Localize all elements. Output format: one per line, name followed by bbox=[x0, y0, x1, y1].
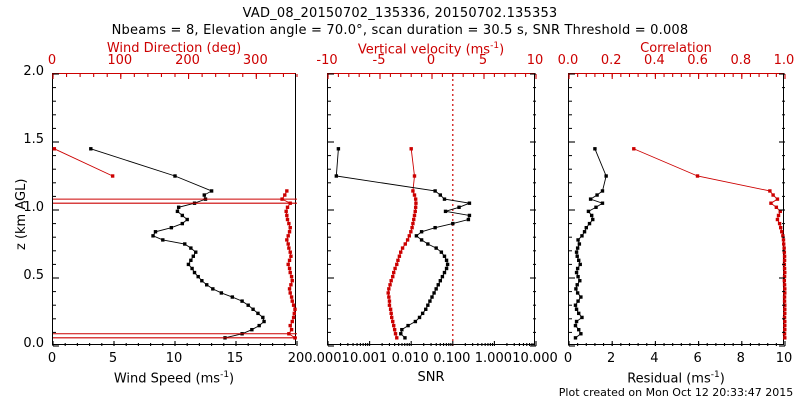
data-point bbox=[577, 259, 580, 262]
x-tick-label: 10 bbox=[776, 351, 793, 366]
data-point bbox=[591, 218, 594, 221]
series-line bbox=[91, 149, 264, 338]
data-point bbox=[389, 308, 392, 311]
data-point bbox=[291, 320, 294, 323]
data-point bbox=[231, 295, 234, 298]
data-point bbox=[391, 275, 394, 278]
data-point bbox=[783, 283, 786, 286]
series-residual bbox=[574, 147, 608, 339]
data-point bbox=[579, 263, 582, 266]
data-point bbox=[577, 312, 580, 315]
data-point bbox=[413, 193, 416, 196]
data-point bbox=[432, 291, 435, 294]
data-point bbox=[574, 304, 577, 307]
data-point bbox=[579, 332, 582, 335]
data-point bbox=[579, 295, 582, 298]
data-point bbox=[434, 246, 437, 249]
panel-wind-canvas bbox=[53, 74, 297, 346]
panel-wind-bottom-axis-title: Wind Speed (ms-1) bbox=[114, 370, 234, 386]
data-point bbox=[576, 275, 579, 278]
data-point bbox=[247, 304, 250, 307]
data-point bbox=[578, 242, 581, 245]
data-point bbox=[251, 308, 254, 311]
data-point bbox=[283, 193, 286, 196]
series-vertical-velocity bbox=[335, 147, 472, 339]
x-tick-label: 0.001 bbox=[350, 351, 387, 366]
data-point bbox=[601, 202, 604, 205]
data-point bbox=[415, 234, 418, 237]
figure-title-line2: Nbeams = 8, Elevation angle = 70.0°, sca… bbox=[112, 23, 689, 38]
data-point bbox=[189, 246, 192, 249]
data-point bbox=[194, 250, 197, 253]
x-tick-label: 2 bbox=[607, 351, 615, 366]
x-top-tick-label: 0.8 bbox=[730, 53, 751, 68]
data-point bbox=[390, 316, 393, 319]
series-line bbox=[388, 149, 416, 338]
data-point bbox=[783, 299, 786, 302]
data-point bbox=[288, 267, 291, 270]
data-point bbox=[589, 197, 592, 200]
data-point bbox=[290, 275, 293, 278]
data-point bbox=[261, 316, 264, 319]
y-tick-label: 0.5 bbox=[23, 268, 44, 283]
panel-residual-bottom-axis-title: Residual (ms-1) bbox=[627, 370, 725, 386]
data-point bbox=[186, 218, 189, 221]
data-point bbox=[782, 238, 785, 241]
data-point bbox=[395, 263, 398, 266]
y-tick-label: 0.0 bbox=[23, 336, 44, 351]
panel-wind bbox=[52, 73, 296, 345]
data-point bbox=[220, 291, 223, 294]
data-point bbox=[782, 246, 785, 249]
data-point bbox=[783, 312, 786, 315]
figure-title-line1: VAD_08_20150702_135336, 20150702.135353 bbox=[243, 6, 558, 21]
series-wind-speed bbox=[89, 147, 266, 339]
data-point bbox=[211, 287, 214, 290]
data-point bbox=[576, 255, 579, 258]
data-point bbox=[190, 267, 193, 270]
data-point bbox=[783, 259, 786, 262]
data-point bbox=[210, 189, 213, 192]
data-point bbox=[290, 328, 293, 331]
x-top-tick-label: 0 bbox=[48, 53, 56, 68]
data-point bbox=[779, 226, 782, 229]
data-point bbox=[292, 316, 295, 319]
data-point bbox=[410, 226, 413, 229]
data-point bbox=[783, 287, 786, 290]
x-top-tick-label: 10 bbox=[527, 53, 544, 68]
data-point bbox=[392, 271, 395, 274]
data-point bbox=[389, 312, 392, 315]
x-top-tick-label: 1.0 bbox=[774, 53, 795, 68]
data-point bbox=[443, 255, 446, 258]
data-point bbox=[285, 214, 288, 217]
data-point bbox=[414, 197, 417, 200]
data-point bbox=[604, 174, 607, 177]
data-point bbox=[783, 336, 786, 339]
data-point bbox=[289, 271, 292, 274]
panel-residual bbox=[568, 73, 784, 345]
data-point bbox=[395, 336, 398, 339]
data-point bbox=[287, 246, 290, 249]
x-top-tick-label: 300 bbox=[243, 53, 268, 68]
data-point bbox=[783, 267, 786, 270]
data-point bbox=[446, 263, 449, 266]
data-point bbox=[337, 147, 340, 150]
data-point bbox=[387, 287, 390, 290]
data-point bbox=[89, 147, 92, 150]
x-tick-label: 20 bbox=[288, 351, 305, 366]
data-point bbox=[286, 242, 289, 245]
data-point bbox=[151, 234, 154, 237]
data-point bbox=[289, 255, 292, 258]
data-point bbox=[393, 328, 396, 331]
data-point bbox=[193, 271, 196, 274]
data-point bbox=[783, 320, 786, 323]
data-point bbox=[189, 259, 192, 262]
data-point bbox=[203, 193, 206, 196]
x-top-tick-label: 0.2 bbox=[601, 53, 622, 68]
data-point bbox=[290, 295, 293, 298]
data-point bbox=[288, 287, 291, 290]
data-point bbox=[574, 336, 577, 339]
data-point bbox=[286, 234, 289, 237]
data-point bbox=[53, 147, 56, 150]
data-point bbox=[289, 283, 292, 286]
series-snr bbox=[387, 147, 418, 339]
data-point bbox=[205, 283, 208, 286]
data-point bbox=[161, 238, 164, 241]
data-point bbox=[576, 283, 579, 286]
data-point bbox=[389, 279, 392, 282]
data-point bbox=[176, 210, 179, 213]
data-point bbox=[575, 250, 578, 253]
data-point bbox=[445, 259, 448, 262]
data-point bbox=[400, 328, 403, 331]
data-point bbox=[293, 312, 296, 315]
data-point bbox=[181, 214, 184, 217]
series-correlation bbox=[632, 147, 786, 339]
data-point bbox=[181, 222, 184, 225]
data-point bbox=[418, 316, 421, 319]
data-point bbox=[578, 279, 581, 282]
data-point bbox=[393, 267, 396, 270]
plot-footnote: Plot created on Mon Oct 12 20:33:47 2015 bbox=[559, 386, 793, 399]
data-point bbox=[289, 226, 292, 229]
data-point bbox=[588, 222, 591, 225]
panel-snr bbox=[327, 73, 535, 345]
data-point bbox=[387, 295, 390, 298]
data-point bbox=[388, 299, 391, 302]
data-point bbox=[696, 174, 699, 177]
data-point bbox=[414, 320, 417, 323]
data-point bbox=[399, 332, 402, 335]
data-point bbox=[408, 234, 411, 237]
data-point bbox=[776, 197, 779, 200]
data-point bbox=[441, 275, 444, 278]
data-point bbox=[240, 299, 243, 302]
x-tick-label: 1.000 bbox=[475, 351, 512, 366]
data-point bbox=[192, 255, 195, 258]
data-point bbox=[577, 328, 580, 331]
data-point bbox=[414, 210, 417, 213]
data-point bbox=[286, 206, 289, 209]
y-tick-label: 1.5 bbox=[23, 132, 44, 147]
data-point bbox=[406, 324, 409, 327]
x-tick-label: 0.010 bbox=[392, 351, 429, 366]
data-point bbox=[399, 250, 402, 253]
data-point bbox=[420, 230, 423, 233]
data-point bbox=[467, 218, 470, 221]
data-point bbox=[575, 308, 578, 311]
data-point bbox=[183, 242, 186, 245]
x-tick-label: 4 bbox=[650, 351, 658, 366]
data-point bbox=[421, 312, 424, 315]
series-line bbox=[336, 149, 469, 338]
data-point bbox=[434, 287, 437, 290]
data-point bbox=[601, 189, 604, 192]
data-point bbox=[387, 291, 390, 294]
data-point bbox=[288, 230, 291, 233]
data-point bbox=[783, 271, 786, 274]
data-point bbox=[413, 174, 416, 177]
data-point bbox=[409, 230, 412, 233]
data-point bbox=[335, 174, 338, 177]
data-point bbox=[398, 255, 401, 258]
data-point bbox=[775, 206, 778, 209]
data-point bbox=[187, 263, 190, 266]
x-top-tick-label: -10 bbox=[316, 53, 337, 68]
data-point bbox=[594, 206, 597, 209]
data-point bbox=[632, 147, 635, 150]
data-point bbox=[782, 242, 785, 245]
panel-residual-canvas bbox=[569, 74, 785, 346]
data-point bbox=[776, 218, 779, 221]
data-point bbox=[576, 291, 579, 294]
data-point bbox=[433, 226, 436, 229]
data-point bbox=[289, 291, 292, 294]
data-point bbox=[154, 230, 157, 233]
data-point bbox=[173, 174, 176, 177]
data-point bbox=[388, 304, 391, 307]
data-point bbox=[439, 279, 442, 282]
data-point bbox=[768, 189, 771, 192]
data-point bbox=[439, 193, 442, 196]
data-point bbox=[392, 324, 395, 327]
data-point bbox=[580, 234, 583, 237]
data-point bbox=[783, 308, 786, 311]
data-point bbox=[780, 230, 783, 233]
data-point bbox=[583, 230, 586, 233]
x-top-tick-label: 0.0 bbox=[558, 53, 579, 68]
data-point bbox=[437, 283, 440, 286]
data-point bbox=[426, 242, 429, 245]
data-point bbox=[783, 324, 786, 327]
data-point bbox=[777, 214, 780, 217]
data-point bbox=[262, 320, 265, 323]
data-point bbox=[783, 295, 786, 298]
data-point bbox=[291, 299, 294, 302]
x-tick-label: 8 bbox=[737, 351, 745, 366]
data-point bbox=[576, 238, 579, 241]
data-point bbox=[412, 218, 415, 221]
data-point bbox=[444, 210, 447, 213]
data-point bbox=[250, 328, 253, 331]
data-point bbox=[394, 332, 397, 335]
data-point bbox=[771, 193, 774, 196]
data-point bbox=[426, 304, 429, 307]
data-point bbox=[289, 250, 292, 253]
data-point bbox=[414, 206, 417, 209]
data-point bbox=[769, 202, 772, 205]
data-point bbox=[111, 174, 114, 177]
data-point bbox=[590, 214, 593, 217]
x-tick-label: 15 bbox=[227, 351, 244, 366]
data-point bbox=[285, 189, 288, 192]
data-point bbox=[411, 189, 414, 192]
data-point bbox=[291, 279, 294, 282]
data-point bbox=[576, 267, 579, 270]
data-point bbox=[430, 295, 433, 298]
data-point bbox=[406, 238, 409, 241]
data-point bbox=[451, 222, 454, 225]
data-point bbox=[443, 271, 446, 274]
data-point bbox=[575, 320, 578, 323]
data-point bbox=[286, 263, 289, 266]
data-point bbox=[285, 238, 288, 241]
data-point bbox=[177, 206, 180, 209]
data-point bbox=[286, 218, 289, 221]
data-point bbox=[424, 308, 427, 311]
data-point bbox=[256, 312, 259, 315]
data-point bbox=[287, 222, 290, 225]
data-point bbox=[595, 193, 598, 196]
data-point bbox=[170, 226, 173, 229]
data-point bbox=[196, 275, 199, 278]
x-tick-label: 5 bbox=[109, 351, 117, 366]
data-point bbox=[457, 206, 460, 209]
data-point bbox=[433, 189, 436, 192]
data-point bbox=[575, 271, 578, 274]
data-point bbox=[574, 324, 577, 327]
data-point bbox=[257, 324, 260, 327]
data-point bbox=[413, 214, 416, 217]
data-point bbox=[445, 267, 448, 270]
data-point bbox=[388, 283, 391, 286]
panel-snr-canvas bbox=[328, 74, 536, 346]
y-axis-label: z (km AGL) bbox=[14, 179, 29, 250]
data-point bbox=[783, 255, 786, 258]
data-point bbox=[783, 328, 786, 331]
panel-snr-top-axis-title: Vertical velocity (ms-1) bbox=[358, 41, 504, 57]
panel-residual-top-axis-title: Correlation bbox=[640, 41, 712, 56]
data-point bbox=[391, 320, 394, 323]
data-point bbox=[200, 279, 203, 282]
x-tick-label: 6 bbox=[693, 351, 701, 366]
data-point bbox=[778, 222, 781, 225]
x-tick-label: 0 bbox=[48, 351, 56, 366]
data-point bbox=[440, 250, 443, 253]
data-point bbox=[428, 299, 431, 302]
x-tick-label: 0.100 bbox=[433, 351, 470, 366]
data-point bbox=[420, 238, 423, 241]
data-point bbox=[403, 336, 406, 339]
data-point bbox=[401, 246, 404, 249]
x-tick-label: 10 bbox=[166, 351, 183, 366]
data-point bbox=[587, 210, 590, 213]
data-point bbox=[293, 308, 296, 311]
data-point bbox=[468, 202, 471, 205]
data-point bbox=[289, 324, 292, 327]
data-point bbox=[410, 147, 413, 150]
panel-wind-top-axis-title: Wind Direction (deg) bbox=[107, 41, 241, 56]
data-point bbox=[468, 214, 471, 217]
data-point bbox=[576, 246, 579, 249]
data-point bbox=[593, 147, 596, 150]
data-point bbox=[292, 304, 295, 307]
data-point bbox=[443, 197, 446, 200]
x-tick-label: 0.0001 bbox=[304, 351, 350, 366]
x-tick-label: 10.000 bbox=[512, 351, 558, 366]
data-point bbox=[288, 259, 291, 262]
data-point bbox=[414, 202, 417, 205]
data-point bbox=[396, 259, 399, 262]
data-point bbox=[580, 316, 583, 319]
series-line bbox=[634, 149, 785, 338]
vad-plot-figure: VAD_08_20150702_135336, 20150702.135353 … bbox=[0, 0, 800, 400]
data-point bbox=[585, 226, 588, 229]
data-point bbox=[411, 222, 414, 225]
data-point bbox=[404, 242, 407, 245]
panel-snr-bottom-axis-title: SNR bbox=[417, 370, 444, 385]
x-tick-label: 0 bbox=[564, 351, 572, 366]
data-point bbox=[576, 299, 579, 302]
data-point bbox=[574, 287, 577, 290]
y-tick-label: 2.0 bbox=[23, 64, 44, 79]
data-point bbox=[783, 279, 786, 282]
data-point bbox=[284, 210, 287, 213]
